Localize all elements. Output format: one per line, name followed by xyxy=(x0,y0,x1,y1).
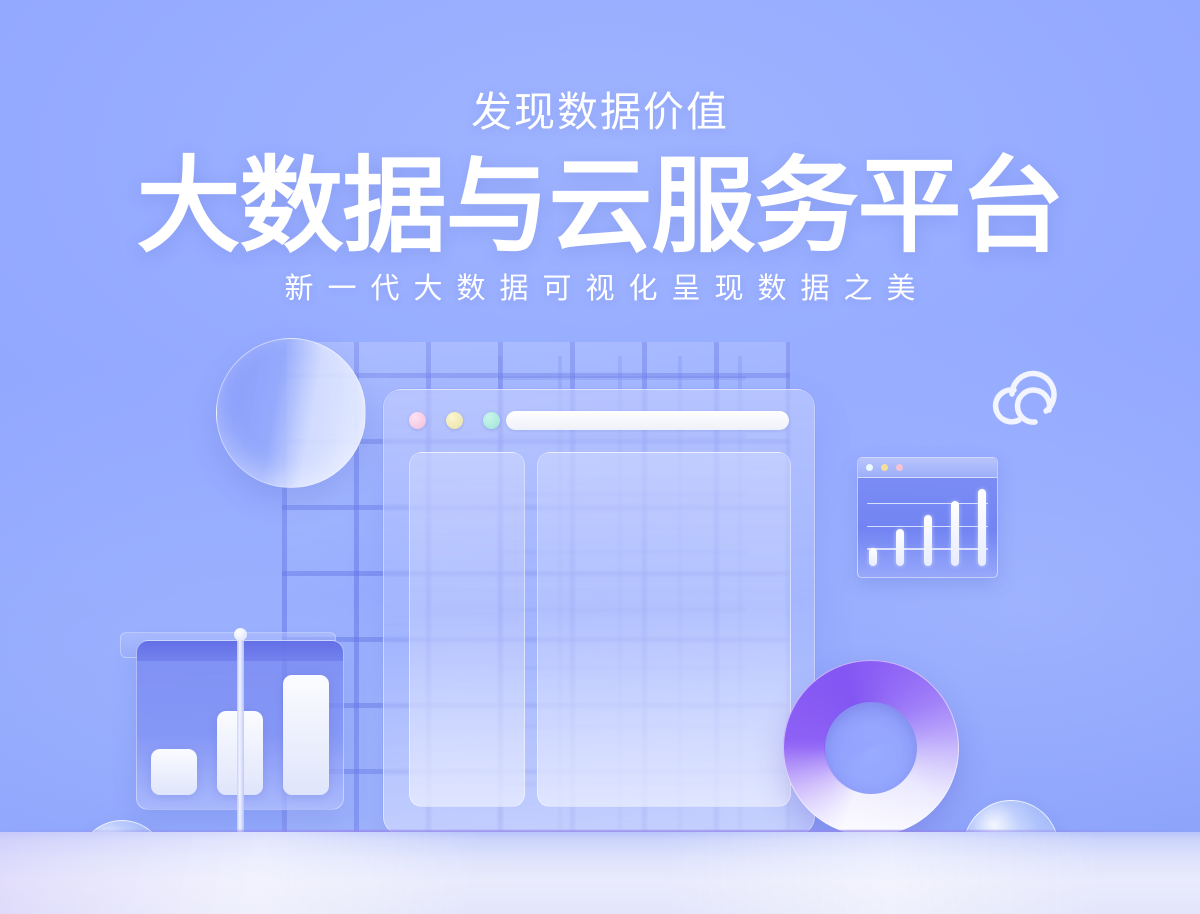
bar xyxy=(283,675,329,795)
bar xyxy=(869,548,877,566)
bar xyxy=(924,515,932,566)
maximize-dot[interactable] xyxy=(483,412,500,429)
bar xyxy=(951,501,959,566)
glass-disc xyxy=(216,338,366,488)
cloud-icon xyxy=(978,364,1070,438)
sidebar-pane[interactable] xyxy=(409,452,525,807)
hero-eyebrow: 发现数据价值 xyxy=(0,92,1200,133)
hero-copy: 发现数据价值 大数据与云服务平台 新一代大数据可视化呈现数据之美 xyxy=(0,0,1200,304)
maximize-dot[interactable] xyxy=(896,464,903,471)
analytics-window-chart xyxy=(867,485,988,566)
bar xyxy=(896,529,904,566)
close-dot[interactable] xyxy=(866,464,873,471)
close-dot[interactable] xyxy=(409,412,426,429)
display-stand-pole xyxy=(237,634,244,846)
analytics-window[interactable] xyxy=(857,457,998,578)
traffic-lights xyxy=(409,412,500,429)
hero-subline: 新一代大数据可视化呈现数据之美 xyxy=(0,275,1200,304)
hero-banner: 发现数据价值 大数据与云服务平台 新一代大数据可视化呈现数据之美 xyxy=(0,0,1200,914)
bar xyxy=(978,489,986,566)
bar xyxy=(151,749,197,795)
main-browser-mockup[interactable] xyxy=(383,389,815,835)
hero-headline: 大数据与云服务平台 xyxy=(0,155,1200,259)
analytics-traffic-lights xyxy=(866,464,903,471)
pane-gloss xyxy=(410,453,524,612)
bar-series xyxy=(869,485,986,566)
analytics-window-titlebar xyxy=(858,458,997,478)
address-bar-input[interactable] xyxy=(506,411,789,430)
pane-gloss xyxy=(538,453,790,612)
minimize-dot[interactable] xyxy=(446,412,463,429)
minimize-dot[interactable] xyxy=(881,464,888,471)
donut-chart-torus xyxy=(783,660,959,836)
floor-reflection-streaks xyxy=(0,832,1200,914)
display-stand-cap xyxy=(234,628,247,641)
content-pane[interactable] xyxy=(537,452,791,807)
